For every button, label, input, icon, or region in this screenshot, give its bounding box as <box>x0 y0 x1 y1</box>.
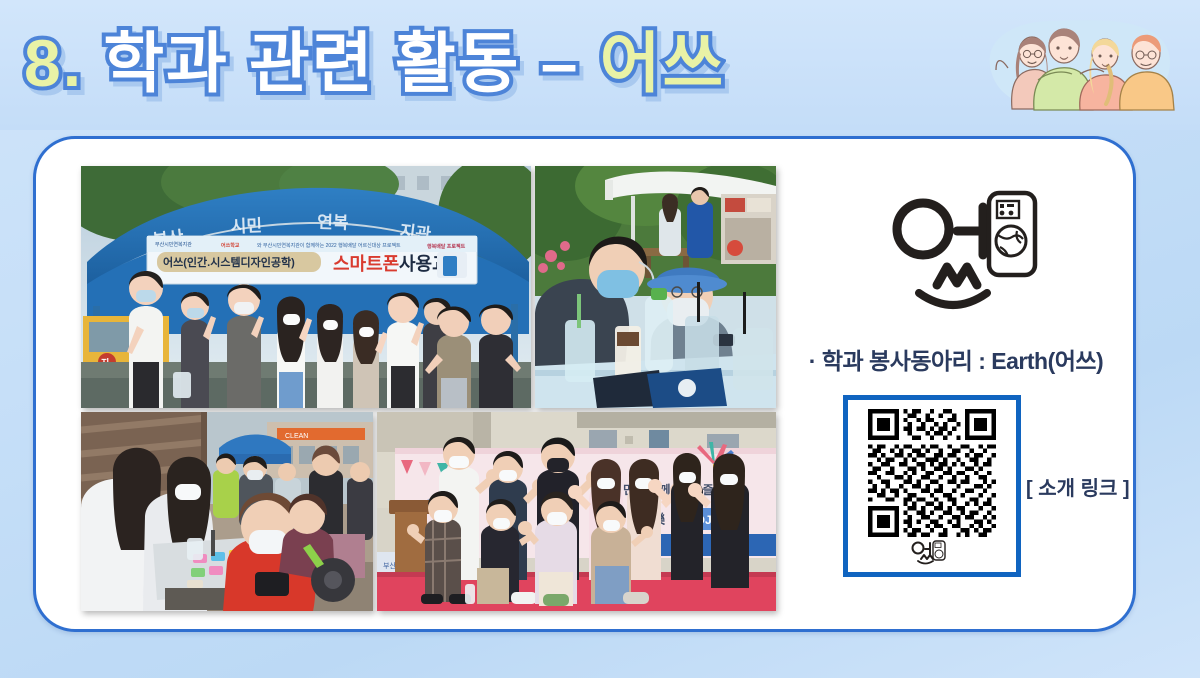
club-caption-text: · 학과 봉사동아리 : Earth(어쓰) <box>786 342 1126 376</box>
club-info-panel: · 학과 봉사동아리 : Earth(어쓰) <box>791 157 1121 617</box>
intro-link-qr-code[interactable] <box>843 395 1021 577</box>
content-card: 부산 시민 연복 지관 부산시민연복지관 어쓰학교 와 부산시민연복지관이 함께… <box>33 136 1136 632</box>
svg-text:스마트폰: 스마트폰 <box>333 254 399 274</box>
earth-club-mini-logo <box>857 539 1007 565</box>
svg-text:시민: 시민 <box>230 216 262 236</box>
svg-text:어쓰(인간.시스템디자인공학): 어쓰(인간.시스템디자인공학) <box>163 255 295 269</box>
qr-matrix <box>857 409 1007 537</box>
title-main-text: 학과 관련 활동 – <box>103 26 579 100</box>
svg-text:부산시민연복지관: 부산시민연복지관 <box>155 241 192 248</box>
earth-club-face-logo <box>881 179 1051 319</box>
photo-student-helping-senior-table <box>535 166 776 408</box>
page-title: 8. 학과 관련 활동 – 어쓰 <box>24 30 725 96</box>
slide-header-band: 8. 학과 관련 활동 – 어쓰 <box>0 0 1200 130</box>
four-friends-group-illustration <box>976 8 1182 120</box>
svg-text:연복: 연복 <box>317 213 349 233</box>
photo-smartphone-tutoring-outdoor: CLEAN <box>81 412 373 611</box>
intro-link-label: [ 소개 링크 ] <box>1026 472 1146 501</box>
title-number: 8. <box>24 26 83 100</box>
photo-volunteer-team-stage: 민과 함께, 함께 즐 PROJ 同樂 복지관 광장 20 부산시 복지관 <box>377 412 776 611</box>
photo-collage: 부산 시민 연복 지관 부산시민연복지관 어쓰학교 와 부산시민연복지관이 함께… <box>81 166 776 611</box>
photo-smartphone-education-tent: 부산 시민 연복 지관 부산시민연복지관 어쓰학교 와 부산시민연복지관이 함께… <box>81 166 531 408</box>
svg-text:어쓰학교: 어쓰학교 <box>221 242 240 249</box>
svg-text:와 부산시민연복지관이 함께하는 2022 행복배달 어르신: 와 부산시민연복지관이 함께하는 2022 행복배달 어르신대상 프로젝트 <box>257 242 401 249</box>
svg-text:CLEAN: CLEAN <box>285 433 308 440</box>
title-highlight-text: 어쓰 <box>600 26 725 100</box>
svg-text:행복배달 프로젝트: 행복배달 프로젝트 <box>427 243 466 250</box>
